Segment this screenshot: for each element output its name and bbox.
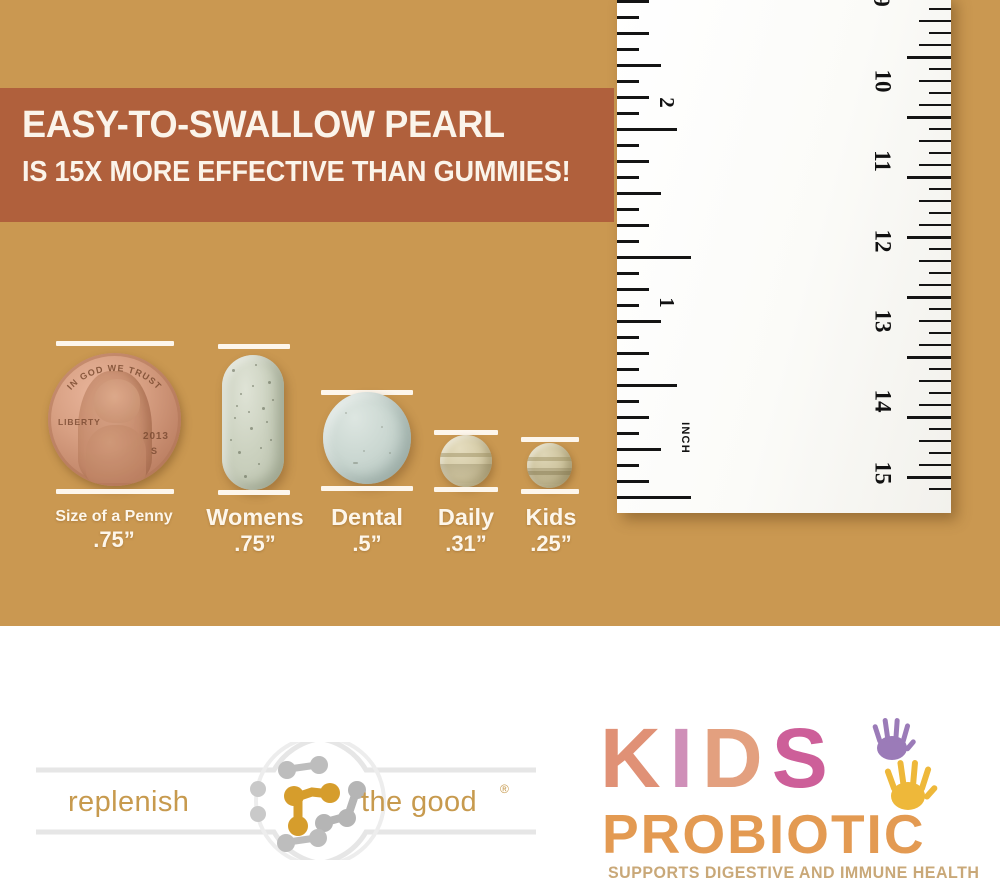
kids-bottom-measure-bar	[521, 489, 579, 494]
ruler-cm-mark-15: 15	[870, 462, 896, 485]
ruler-ticks	[617, 0, 951, 513]
size-label-daily-name: Daily	[414, 504, 518, 530]
dental-bottom-measure-bar	[321, 486, 413, 491]
size-label-dental-name: Dental	[312, 504, 422, 530]
size-label-kids-name: Kids	[505, 504, 597, 530]
product-logo-subtitle: PROBIOTIC	[602, 804, 926, 864]
penny-year-text: 2013	[143, 431, 169, 442]
size-label-womens-value: .75”	[192, 532, 318, 557]
size-label-dental-value: .5”	[312, 532, 422, 557]
womens-bottom-measure-bar	[218, 490, 290, 495]
brand-logo-left-word: replenish	[68, 786, 189, 819]
ruler-cm-mark-13: 13	[870, 310, 896, 333]
product-logo-letter-i: I	[670, 711, 702, 805]
pill-daily	[440, 435, 492, 487]
product-logo-letter-d: D	[702, 711, 772, 805]
ruler-face: 2 1 INCH 9 10 11 12 13 14 15	[617, 0, 951, 513]
pill-kids	[527, 443, 572, 488]
size-label-penny-value: .75”	[24, 528, 204, 553]
ruler-unit-label: INCH	[679, 422, 691, 454]
size-comparison-group: IN GOD WE TRUST LIBERTY 2013 S Size of a…	[0, 0, 614, 626]
kids-top-measure-bar	[521, 437, 579, 442]
brand-logo-right-word: the good	[361, 786, 477, 819]
size-label-womens: Womens .75”	[192, 504, 318, 557]
product-logo-letter-s: S	[772, 711, 837, 805]
size-label-daily: Daily .31”	[414, 504, 518, 557]
size-label-dental: Dental .5”	[312, 504, 422, 557]
product-logo-title: KIDS	[600, 712, 900, 804]
size-label-womens-name: Womens	[192, 504, 318, 530]
ruler-cm-mark-11: 11	[869, 150, 895, 172]
penny-bottom-measure-bar	[56, 489, 174, 494]
ruler-cm-mark-9: 9	[868, 0, 894, 7]
daily-bottom-measure-bar	[434, 487, 498, 492]
ruler-photo: 2 1 INCH 9 10 11 12 13 14 15	[617, 0, 951, 513]
penny-coin: IN GOD WE TRUST LIBERTY 2013 S	[48, 353, 181, 486]
ruler-inch-mark-2: 2	[654, 97, 679, 108]
ruler-cm-mark-14: 14	[870, 390, 896, 413]
penny-mint-mark: S	[151, 446, 158, 456]
product-logo-letter-k: K	[600, 711, 670, 805]
ruler-cm-mark-10: 10	[870, 70, 896, 93]
registered-trademark-icon: ®	[500, 782, 509, 796]
brand-logo-replenish-the-good: replenish the good ®	[36, 742, 536, 860]
penny-liberty-text: LIBERTY	[58, 417, 101, 427]
pill-womens	[222, 355, 284, 490]
product-logo-kids-probiotic: KIDS PROBIOTIC SUPPORTS	[592, 712, 962, 884]
svg-text:IN GOD WE TRUST: IN GOD WE TRUST	[65, 363, 164, 392]
size-label-kids-value: .25”	[505, 532, 597, 557]
size-label-kids: Kids .25”	[505, 504, 597, 557]
ruler-cm-mark-12: 12	[870, 230, 896, 253]
size-label-penny: Size of a Penny .75”	[24, 508, 204, 553]
pill-dental	[323, 392, 411, 484]
penny-top-measure-bar	[56, 341, 174, 346]
product-infographic: 2 1 INCH 9 10 11 12 13 14 15 EASY-TO-SWA…	[0, 0, 1000, 891]
product-logo-tagline: SUPPORTS DIGESTIVE AND IMMUNE HEALTH	[608, 864, 979, 883]
ruler-inch-mark-1: 1	[654, 297, 679, 308]
penny-motto-arc: IN GOD WE TRUST	[48, 361, 181, 411]
size-label-penny-name: Size of a Penny	[24, 508, 204, 526]
womens-top-measure-bar	[218, 344, 290, 349]
size-label-daily-value: .31”	[414, 532, 518, 557]
